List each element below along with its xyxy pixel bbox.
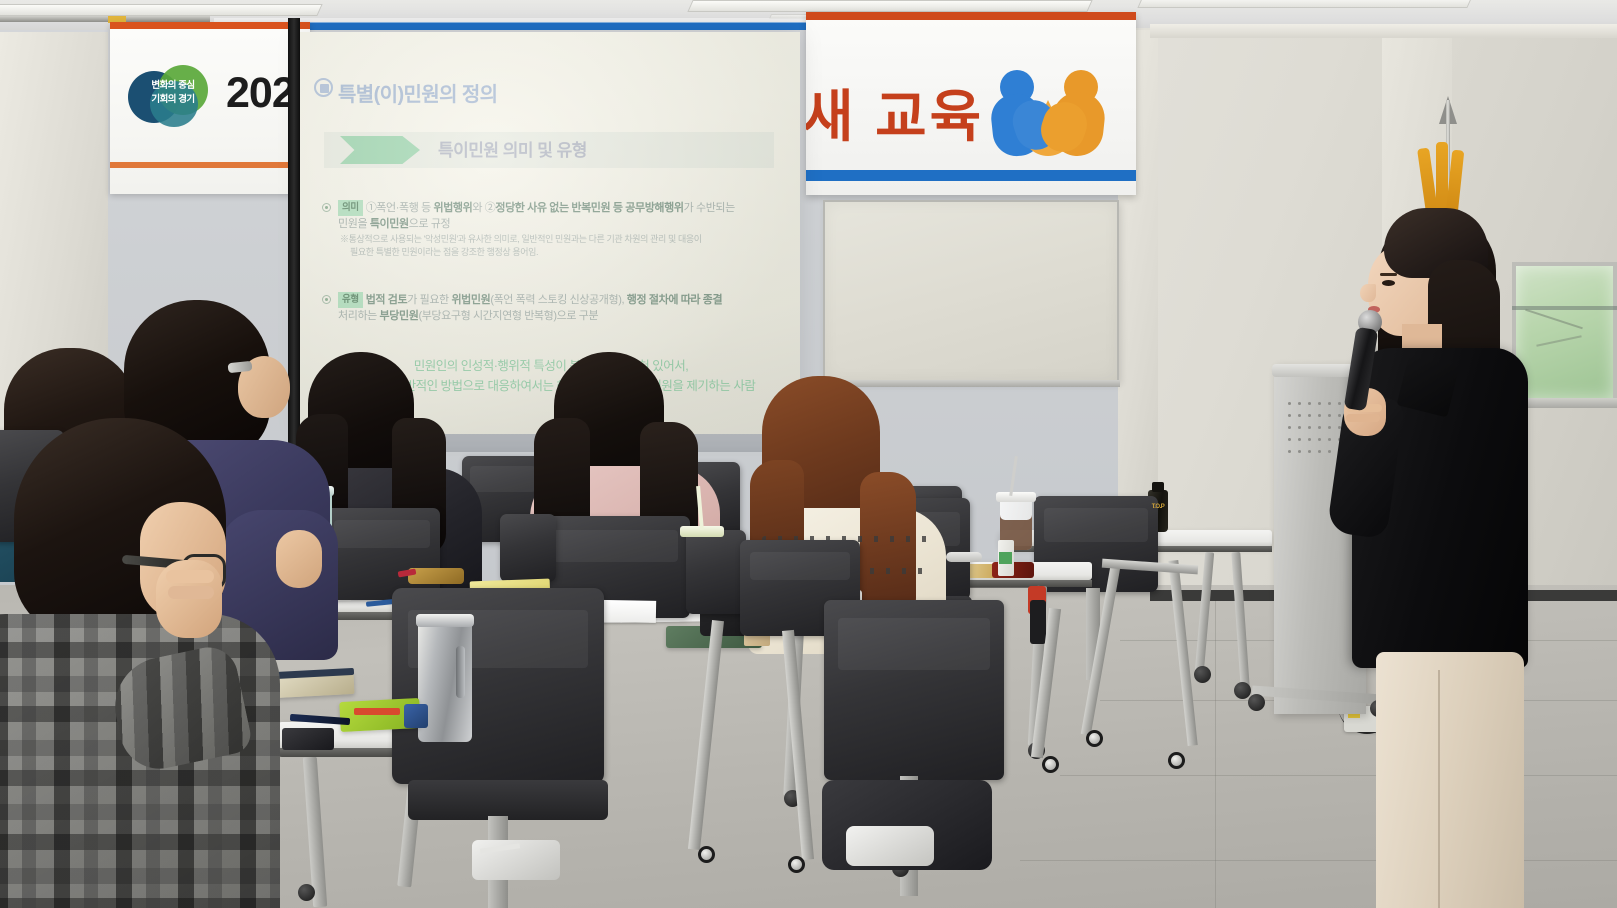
ceiling-light-panel — [0, 4, 323, 16]
snack-packet-gold — [408, 568, 464, 584]
table-leg-sleeve — [1030, 600, 1046, 644]
slide-section-heading: 특이민원 의미 및 유형 — [438, 136, 587, 161]
bullet-1-note-1: ※통상적으로 사용되는 '악성민원'과 유사한 의미로, 일반적인 민원과는 다… — [340, 233, 782, 246]
tree-branch — [1525, 309, 1583, 329]
banner-blue-strip — [806, 170, 1136, 181]
presenter-nose — [1360, 284, 1376, 302]
floor-tile-line — [1215, 600, 1216, 908]
podium-caster — [1248, 694, 1265, 711]
classroom-photo-scene: 변화의 중심 기회의 경기 2026 새 교육 특별(이)민원의 정의 — [0, 0, 1617, 908]
chair-row-1b-2 — [500, 514, 556, 582]
whiteboard-tray — [828, 380, 1120, 387]
people-logo-icon — [992, 70, 1104, 155]
ceiling-light-panel — [687, 0, 1092, 12]
attendee-hand — [276, 530, 322, 588]
chair-caster — [1086, 730, 1103, 747]
chair-caster — [1168, 752, 1185, 769]
banner-education: 새 교육 — [806, 12, 1136, 195]
table-caster — [1234, 682, 1251, 699]
chair-seat — [408, 780, 608, 820]
slide-title-icon — [314, 78, 333, 97]
bullet-2-line-2: 처리하는 부당민원(부당요구형 시간지연형 반복형)으로 구분 — [338, 309, 782, 325]
presenter-finger — [1346, 414, 1380, 422]
chair-caster — [788, 856, 805, 873]
presenter-trousers — [1376, 652, 1524, 908]
bullet-1-line-1: 의미①폭언·폭행 등 위법행위와 ②정당한 사유 없는 반복민원 등 공무방해행… — [338, 200, 782, 217]
cup-lid — [996, 492, 1036, 502]
tree-branch — [1536, 335, 1581, 347]
gyeonggi-logo-text: 변화의 중심 기회의 경기 — [140, 79, 206, 107]
table-caster — [298, 884, 315, 901]
banner-gyeonggi: 변화의 중심 기회의 경기 2026 — [110, 22, 310, 194]
slide-title: 특별(이)민원의 정의 — [338, 78, 497, 107]
eyeglasses — [946, 552, 982, 562]
bottle-cap — [1152, 482, 1164, 492]
chair-center-lower — [824, 600, 1004, 780]
bottle-label: T.O.P — [1150, 503, 1166, 512]
presenter-eye — [1382, 280, 1395, 286]
slide-bullet-2: 유형법적 검토가 필요한 위법민원(폭언 폭력 스토킹 신상공개형), 행정 절… — [322, 292, 782, 325]
trouser-crease — [1438, 670, 1440, 908]
chair-row-2b — [686, 530, 746, 614]
tumbler-handle — [456, 646, 465, 698]
attendee-finger — [168, 586, 214, 599]
gyeonggi-logo: 변화의 중심 기회의 경기 — [128, 65, 212, 127]
bottle-label-green — [999, 552, 1012, 564]
ceiling-light-panel — [1137, 0, 1472, 8]
chair-caster — [1042, 756, 1059, 773]
smartphone — [282, 728, 334, 750]
attendee-finger — [166, 570, 214, 583]
slide-bullet-1: 의미①폭언·폭행 등 위법행위와 ②정당한 사유 없는 반복민원 등 공무방해행… — [322, 200, 782, 259]
table-caster — [1194, 666, 1211, 683]
snack-packet-blue — [404, 704, 428, 728]
whiteboard — [823, 200, 1119, 382]
snack-label — [354, 708, 400, 715]
bullet-1-note-2: 필요한 특별한 민원이라는 점을 강조한 행정상 용어임. — [350, 246, 782, 259]
banner-education-text: 새 교육 — [806, 72, 984, 153]
bullet-2-line-1: 유형법적 검토가 필요한 위법민원(폭언 폭력 스토킹 신상공개형), 행정 절… — [338, 292, 782, 309]
right-wall-cornice — [1150, 24, 1617, 38]
chair-row-1b — [324, 508, 440, 600]
chair-caster — [698, 846, 715, 863]
bullet-marker-icon — [322, 295, 331, 304]
bullet-1-tag: 의미 — [338, 200, 363, 216]
floor-tile-line — [1060, 775, 1617, 776]
floor-tile-line — [1020, 860, 1617, 861]
presenter-eyebrow — [1380, 273, 1397, 276]
tumbler-lid — [416, 614, 474, 627]
sneaker — [846, 826, 934, 866]
bullet-1-line-2: 민원을 특이민원으로 규정 — [338, 217, 782, 233]
bullet-marker-icon — [322, 203, 331, 212]
banner-left-strip — [110, 162, 310, 168]
bullet-2-tag: 유형 — [338, 292, 363, 308]
